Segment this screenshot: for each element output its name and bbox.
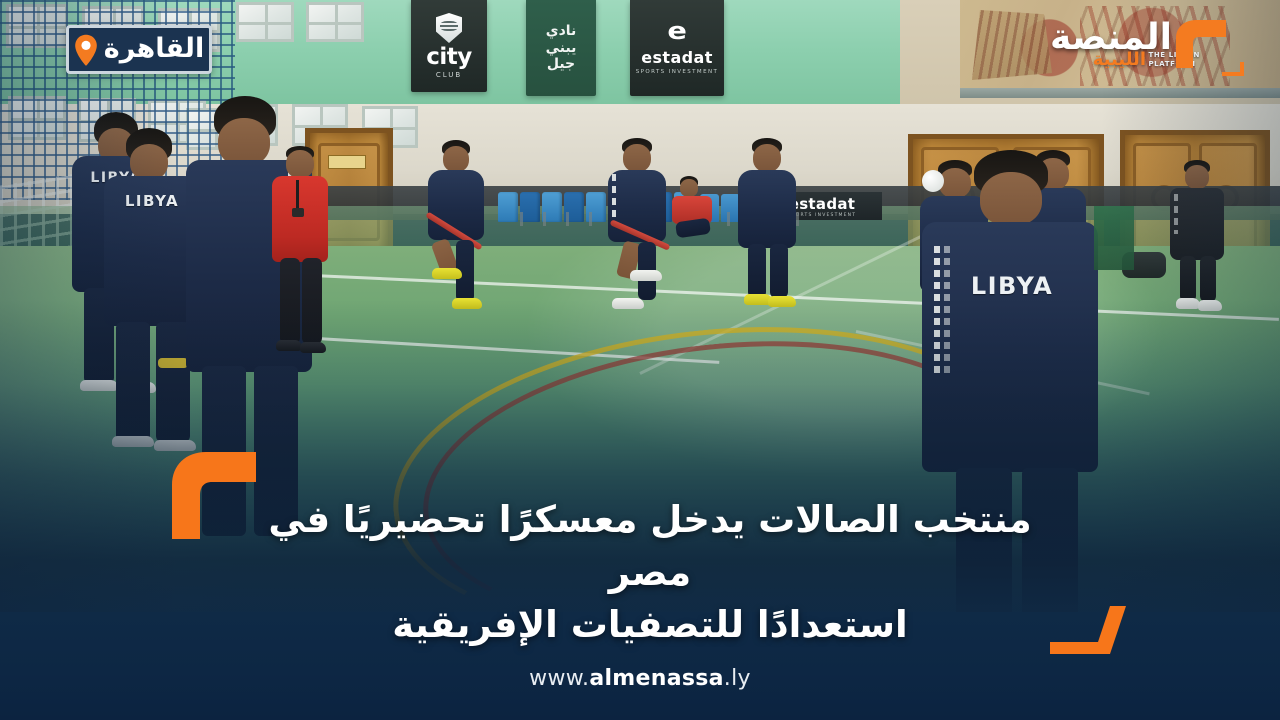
brand-logo[interactable]: المنصة الليبية THE LIBYAN PLATFORM <box>1044 18 1224 80</box>
headline-line-1: منتخب الصالات يدخل معسكرًا تحضيريًا في م… <box>250 494 1050 599</box>
map-pin-icon <box>74 34 98 66</box>
orange-bracket-open-icon <box>168 449 260 539</box>
location-label: القاهرة <box>104 35 204 65</box>
site-url-brand: almenassa <box>589 666 723 691</box>
orange-bracket-small-icon <box>1220 60 1246 76</box>
news-card: city CLUB نادي يبني جيل e estadat SPORTS… <box>0 0 1280 720</box>
headline-line-2: استعدادًا للتصفيات الإفريقية <box>250 599 1050 652</box>
brand-subtitle-ar: الليبية <box>1093 51 1146 69</box>
site-url[interactable]: www.almenassa.ly <box>0 666 1280 691</box>
location-badge[interactable]: القاهرة <box>66 25 212 74</box>
orange-bracket-close-icon <box>1048 604 1128 656</box>
site-url-prefix: www. <box>529 666 589 691</box>
headline: منتخب الصالات يدخل معسكرًا تحضيريًا في م… <box>250 494 1050 652</box>
site-url-suffix: .ly <box>724 666 751 691</box>
